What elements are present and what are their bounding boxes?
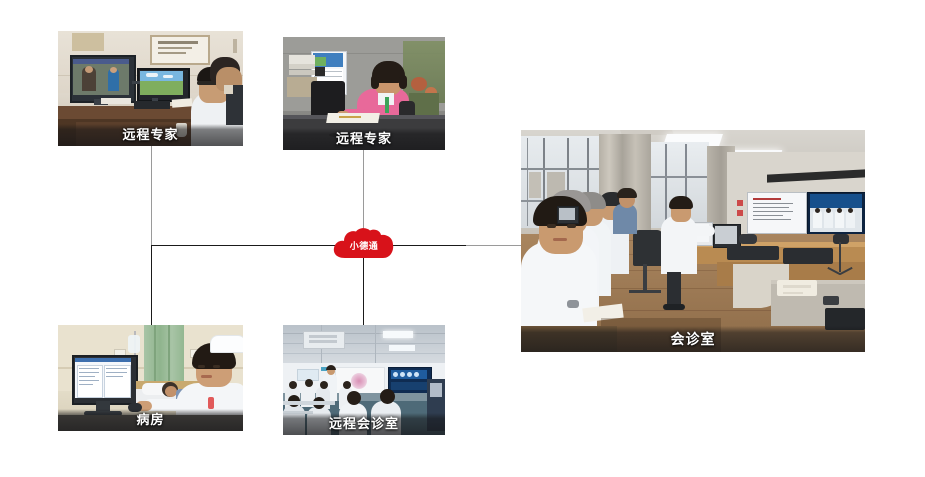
node-consult-room[interactable]: 会诊室 [521,130,865,352]
caption-remote-expert-1: 远程专家 [58,124,243,146]
connector-bus-right-tail [466,245,524,246]
connector-bus-left [151,245,335,246]
node-ward[interactable]: 病房 [58,325,243,431]
node-remote-consult-room[interactable]: 远程会诊室 [283,325,445,435]
caption-remote-expert-2: 远程专家 [283,128,445,150]
connector-line-remote-expert-2 [363,150,364,232]
cloud-icon [331,228,397,262]
telemedicine-network-diagram: 小德通 [0,0,925,477]
caption-consult-room: 会诊室 [521,326,865,352]
caption-remote-consult-room: 远程会诊室 [283,413,445,435]
hub-cloud-node[interactable]: 小德通 [331,228,397,262]
connector-line-remote-expert-1 [151,146,152,245]
photo-consult-room [521,130,865,352]
node-remote-expert-2[interactable]: 远程专家 [283,37,445,150]
caption-ward: 病房 [58,409,243,431]
connector-line-remote-consult-room [363,258,364,327]
connector-bus-right [393,245,468,246]
connector-line-ward [151,245,152,327]
node-remote-expert-1[interactable]: 远程专家 [58,31,243,146]
